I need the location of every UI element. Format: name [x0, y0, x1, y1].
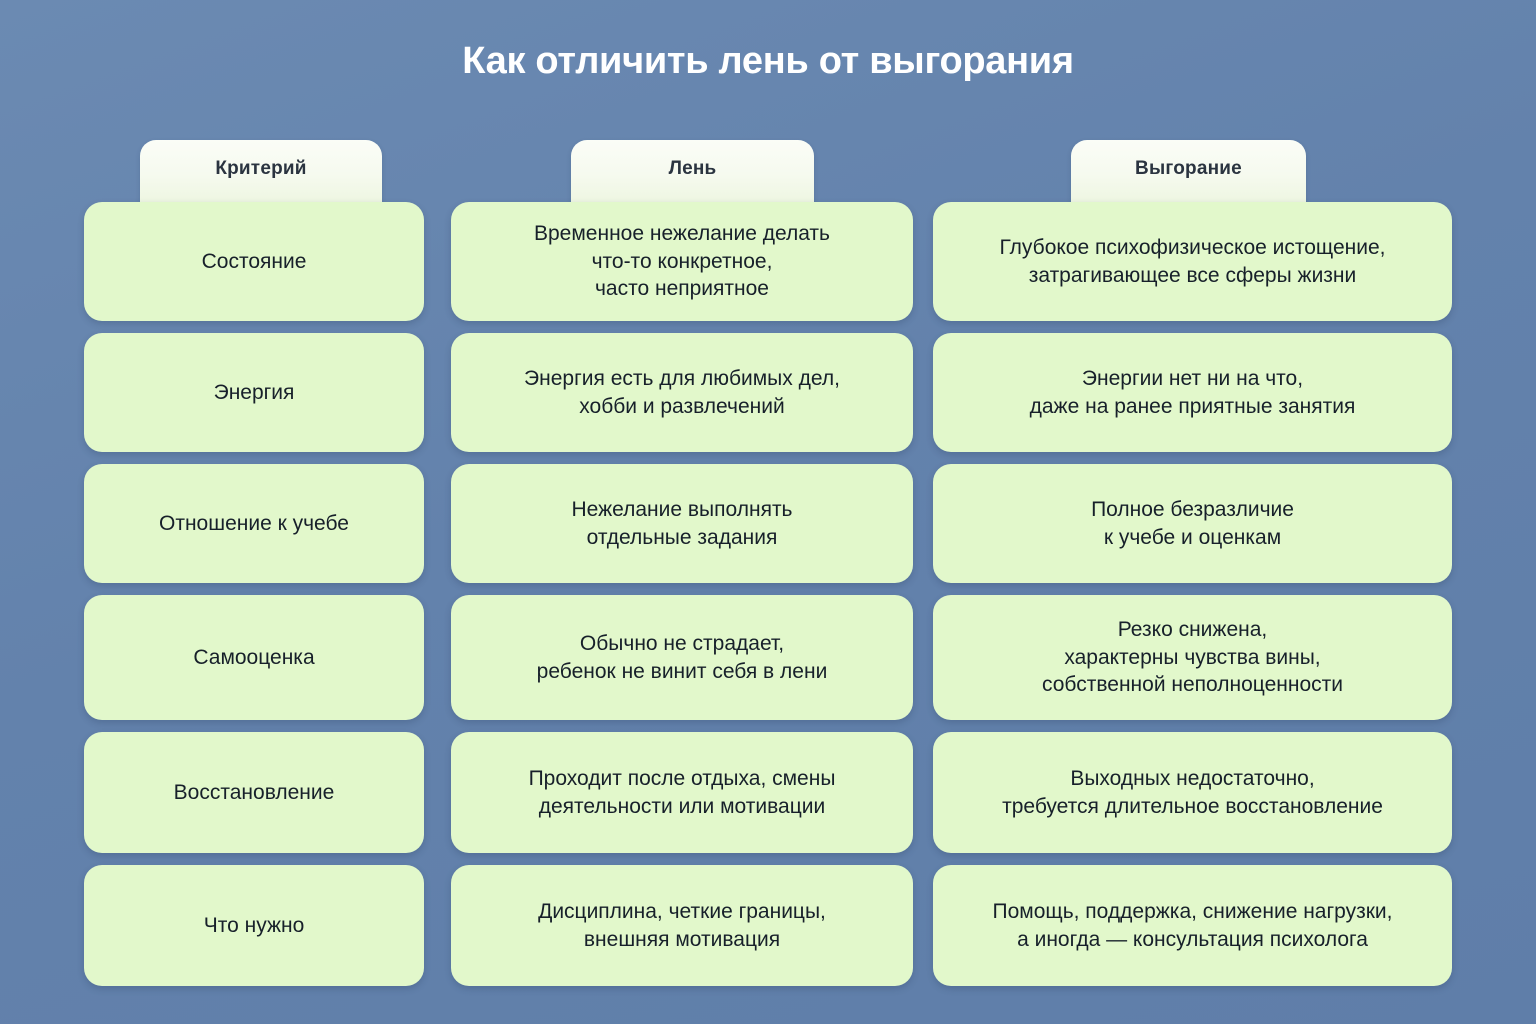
cell-text: Глубокое психофизическое истощение, затр…	[999, 234, 1385, 289]
cell-burnout: Резко снижена, характерны чувства вины, …	[933, 595, 1452, 720]
cell-criterion: Восстановление	[84, 732, 424, 853]
cell-laziness: Проходит после отдыха, смены деятельност…	[451, 732, 913, 853]
cell-text: Энергия есть для любимых дел, хобби и ра…	[524, 365, 840, 420]
cell-text: Энергии нет ни на что, даже на ранее при…	[1030, 365, 1356, 420]
cell-laziness: Энергия есть для любимых дел, хобби и ра…	[451, 333, 913, 452]
cell-text: Обычно не страдает, ребенок не винит себ…	[537, 630, 828, 685]
infographic-poster: Как отличить лень от выгорания Критерий …	[0, 0, 1536, 1024]
cell-text: Самооценка	[193, 644, 314, 672]
cell-text: Помощь, поддержка, снижение нагрузки, а …	[993, 898, 1393, 953]
cell-text: Проходит после отдыха, смены деятельност…	[529, 765, 836, 820]
cell-burnout: Энергии нет ни на что, даже на ранее при…	[933, 333, 1452, 452]
cell-text: Временное нежелание делать что-то конкре…	[534, 220, 830, 303]
table-row: Что нужно Дисциплина, четкие границы, вн…	[84, 865, 1452, 986]
cell-criterion: Что нужно	[84, 865, 424, 986]
table-row: Самооценка Обычно не страдает, ребенок н…	[84, 595, 1452, 720]
column-header-label: Выгорание	[1135, 158, 1242, 184]
column-header-label: Лень	[669, 158, 717, 184]
table-row: Восстановление Проходит после отдыха, см…	[84, 732, 1452, 853]
column-header-criterion: Критерий	[140, 140, 382, 202]
comparison-table: Критерий Лень Выгорание Состояние Времен…	[84, 140, 1452, 998]
cell-text: Нежелание выполнять отдельные задания	[571, 496, 792, 551]
cell-text: Полное безразличие к учебе и оценкам	[1091, 496, 1294, 551]
column-header-label: Критерий	[215, 158, 306, 184]
cell-laziness: Дисциплина, четкие границы, внешняя моти…	[451, 865, 913, 986]
cell-text: Дисциплина, четкие границы, внешняя моти…	[538, 898, 826, 953]
cell-criterion: Состояние	[84, 202, 424, 321]
table-header-row: Критерий Лень Выгорание	[84, 140, 1452, 202]
cell-burnout: Глубокое психофизическое истощение, затр…	[933, 202, 1452, 321]
column-header-burnout: Выгорание	[1071, 140, 1306, 202]
cell-text: Восстановление	[174, 779, 335, 807]
cell-burnout: Помощь, поддержка, снижение нагрузки, а …	[933, 865, 1452, 986]
cell-laziness: Обычно не страдает, ребенок не винит себ…	[451, 595, 913, 720]
cell-laziness: Временное нежелание делать что-то конкре…	[451, 202, 913, 321]
cell-text: Выходных недостаточно, требуется длитель…	[1002, 765, 1383, 820]
table-row: Отношение к учебе Нежелание выполнять от…	[84, 464, 1452, 583]
cell-text: Энергия	[214, 379, 295, 407]
table-row: Энергия Энергия есть для любимых дел, хо…	[84, 333, 1452, 452]
cell-laziness: Нежелание выполнять отдельные задания	[451, 464, 913, 583]
cell-text: Состояние	[202, 248, 307, 276]
cell-criterion: Самооценка	[84, 595, 424, 720]
page-title: Как отличить лень от выгорания	[0, 40, 1536, 83]
table-row: Состояние Временное нежелание делать что…	[84, 202, 1452, 321]
cell-burnout: Выходных недостаточно, требуется длитель…	[933, 732, 1452, 853]
cell-text: Что нужно	[204, 912, 305, 940]
column-header-laziness: Лень	[571, 140, 814, 202]
cell-text: Резко снижена, характерны чувства вины, …	[1042, 616, 1343, 699]
cell-criterion: Энергия	[84, 333, 424, 452]
cell-text: Отношение к учебе	[159, 510, 349, 538]
cell-criterion: Отношение к учебе	[84, 464, 424, 583]
cell-burnout: Полное безразличие к учебе и оценкам	[933, 464, 1452, 583]
